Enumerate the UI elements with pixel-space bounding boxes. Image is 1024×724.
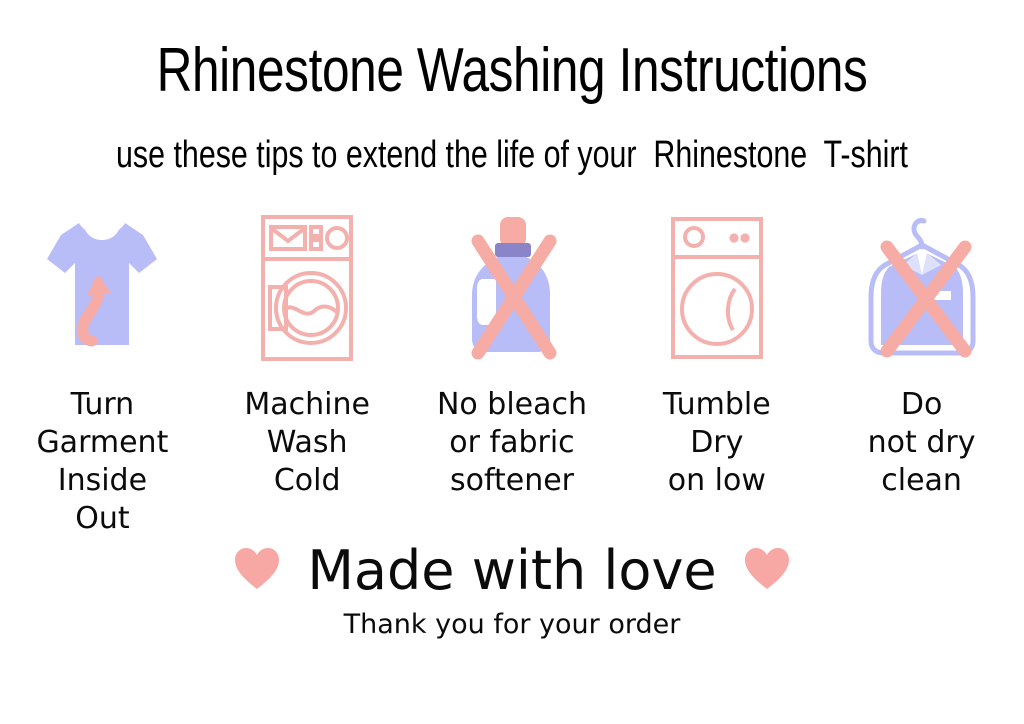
icon-cell-3 — [410, 208, 615, 368]
no-dry-clean-icon — [859, 213, 985, 363]
icon-row — [0, 208, 1024, 368]
heart-icon-right — [743, 547, 791, 595]
no-bleach-icon — [452, 213, 572, 363]
washing-instructions-card: Rhinestone Washing Instructions use thes… — [0, 0, 1024, 724]
icon-cell-5 — [819, 208, 1024, 368]
caption-do-not-dry-clean: Do not dry clean — [819, 386, 1024, 538]
caption-tumble-dry-low: Tumble Dry on low — [614, 386, 819, 538]
icon-cell-4 — [614, 208, 819, 368]
thank-you-text: Thank you for your order — [0, 608, 1024, 642]
washing-machine-icon — [259, 213, 355, 363]
page-subtitle: use these tips to extend the life of you… — [102, 132, 921, 178]
caption-row: Turn Garment Inside Out Machine Wash Col… — [0, 386, 1024, 538]
caption-turn-garment-inside-out: Turn Garment Inside Out — [0, 386, 205, 538]
made-with-love-text: Made with love — [307, 540, 716, 602]
caption-machine-wash-cold: Machine Wash Cold — [205, 386, 410, 538]
page-title: Rhinestone Washing Instructions — [102, 36, 921, 106]
tshirt-inside-out-icon — [43, 213, 161, 363]
made-with-love-row: Made with love — [0, 540, 1024, 602]
heart-icon-left — [233, 547, 281, 595]
icon-cell-1 — [0, 208, 205, 368]
icon-cell-2 — [205, 208, 410, 368]
caption-no-bleach: No bleach or fabric softener — [410, 386, 615, 538]
tumble-dryer-icon — [669, 213, 765, 363]
